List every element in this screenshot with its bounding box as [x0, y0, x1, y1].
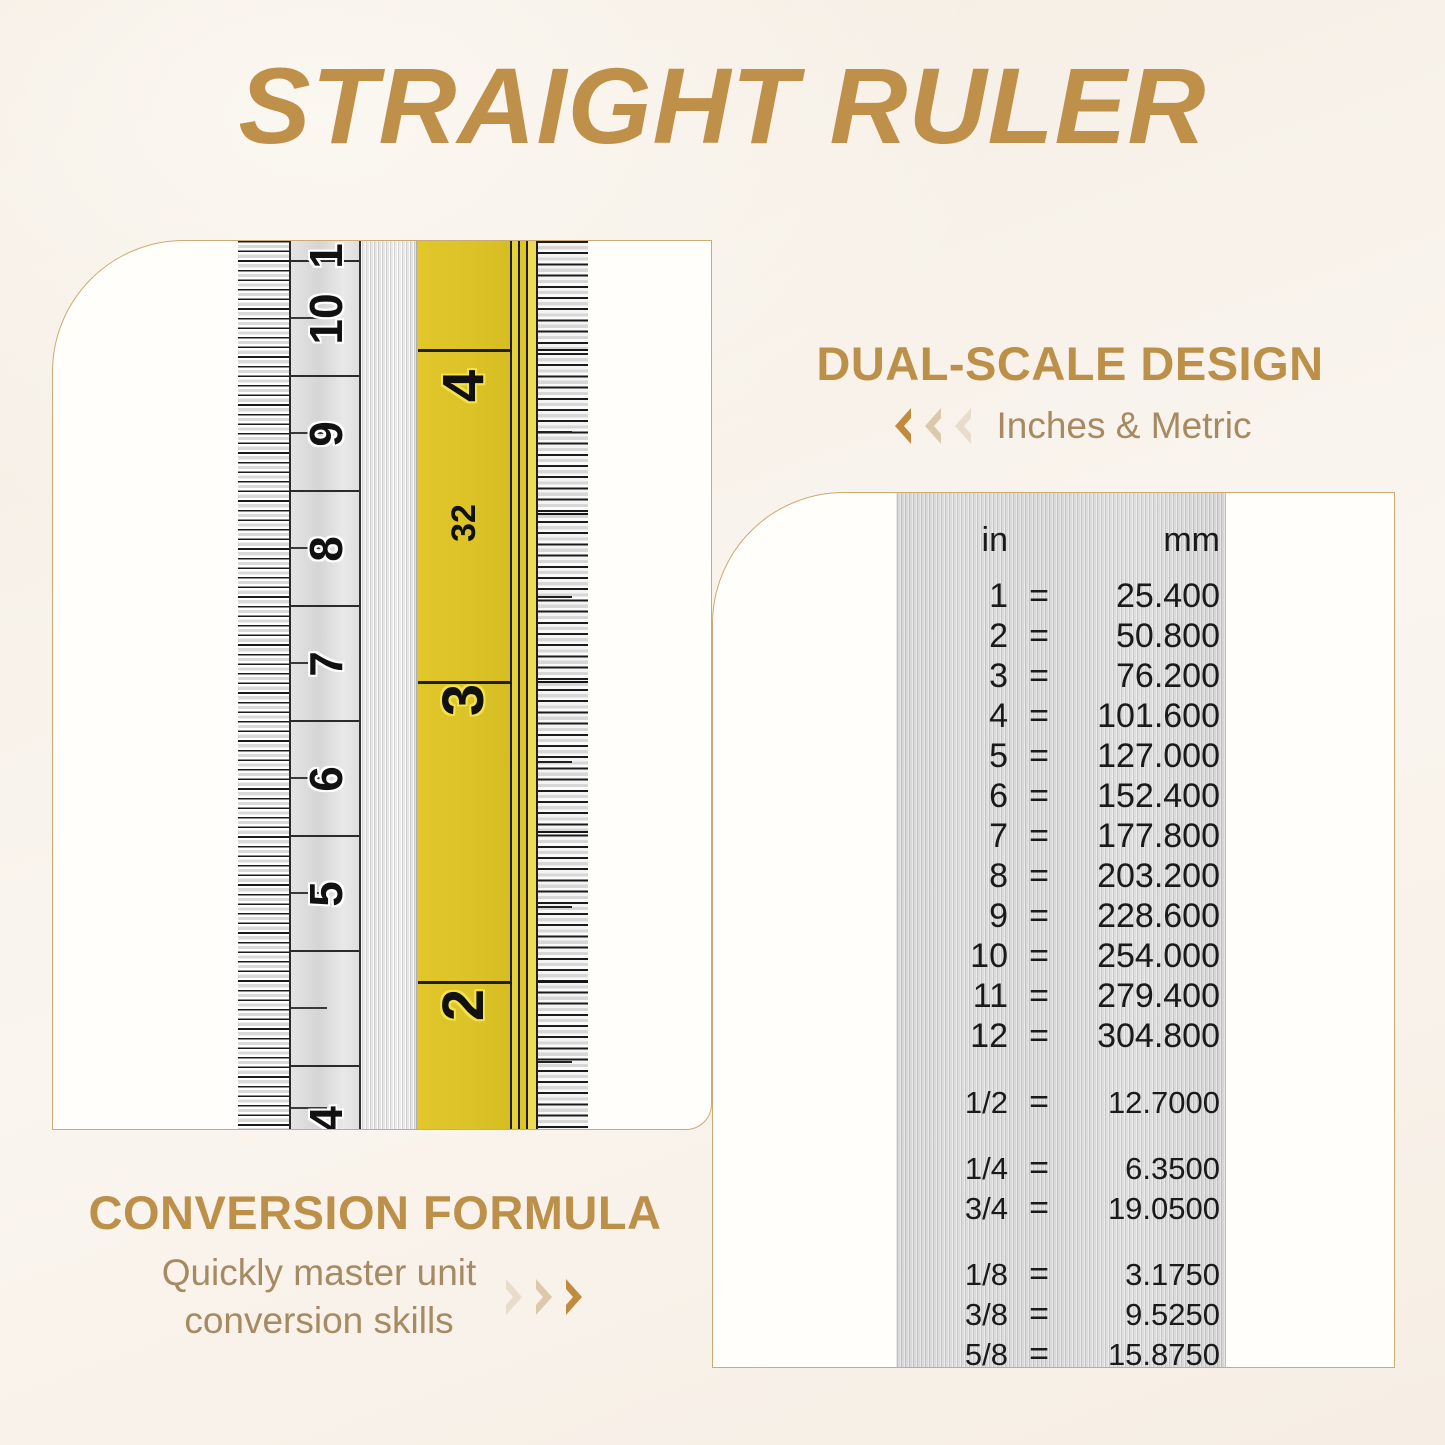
table-row: 5=127.000: [896, 739, 1226, 779]
chevron-left-icon: [919, 406, 945, 446]
cell-millimeters: 6.3500: [1070, 1153, 1220, 1184]
table-row: 1/2=12.7000: [896, 1085, 1226, 1125]
conversion-subtitle-line1: Quickly master unit: [162, 1252, 477, 1294]
cm-separator: [291, 1065, 361, 1067]
cell-inches: 1: [896, 579, 1008, 613]
inch-minor-tick: [538, 906, 572, 908]
half-inch-rows: 1/2=12.7000: [896, 1085, 1226, 1125]
table-header-row: in = mm: [896, 523, 1226, 579]
table-row: 9=228.600: [896, 899, 1226, 939]
cell-millimeters: 304.800: [1070, 1019, 1220, 1053]
row-gap: [896, 1231, 1226, 1257]
inch-major-tick: [538, 349, 588, 351]
inch-major-tick: [538, 681, 588, 683]
inch-sub-label: 32: [447, 477, 481, 569]
cell-millimeters: 254.000: [1070, 939, 1220, 973]
cell-millimeters: 177.800: [1070, 819, 1220, 853]
metric-number-plate: 1 10 9 8 7 6 5 4: [291, 241, 361, 1130]
conversion-formula-title: CONVERSION FORMULA: [55, 1185, 695, 1240]
cell-inches: 12: [896, 1019, 1008, 1053]
chevron-right-icon: [532, 1277, 558, 1317]
chevron-left-group: [889, 406, 975, 446]
dual-scale-subtitle: Inches & Metric: [997, 405, 1252, 447]
chevron-right-icon: [562, 1277, 588, 1317]
row-gap: [896, 1059, 1226, 1085]
column-header-in: in: [896, 523, 1008, 557]
inch-tape-band: 4 32 3 2: [418, 241, 510, 1130]
table-row: 6=152.400: [896, 779, 1226, 819]
cell-equals: =: [1008, 979, 1070, 1013]
cell-equals: =: [1008, 1297, 1070, 1331]
cell-equals: =: [1008, 819, 1070, 853]
cell-inches: 7: [896, 819, 1008, 853]
row-gap: [896, 1125, 1226, 1151]
cell-equals: =: [1008, 859, 1070, 893]
inch-minor-tick: [538, 596, 572, 598]
metal-plate: in = mm 1=25.4002=50.8003=76.2004=101.60…: [896, 493, 1226, 1368]
metric-label: 4: [303, 1084, 349, 1130]
cell-equals: =: [1008, 779, 1070, 813]
cell-inches: 3/8: [896, 1299, 1008, 1330]
cm-separator: [291, 720, 361, 722]
table-row: 1/4=6.3500: [896, 1151, 1226, 1191]
chevron-left-icon: [889, 406, 915, 446]
cell-inches: 11: [896, 979, 1008, 1013]
chevron-left-icon: [949, 406, 975, 446]
ruler-illustration: 1 10 9 8 7 6 5 4 4 32 3 2: [238, 241, 588, 1130]
inch-minor-tick: [538, 1061, 572, 1063]
page-background: STRAIGHT RULER: [0, 0, 1445, 1445]
chevron-right-group: [502, 1277, 588, 1317]
aluminium-body: [361, 241, 418, 1130]
cell-inches: 8: [896, 859, 1008, 893]
cell-millimeters: 15.8750: [1070, 1339, 1220, 1368]
cell-equals: =: [1008, 1191, 1070, 1225]
cell-millimeters: 19.0500: [1070, 1193, 1220, 1224]
cell-inches: 9: [896, 899, 1008, 933]
inch-label: 2: [435, 959, 493, 1051]
tape-edge-stripes: [510, 241, 538, 1130]
cell-inches: 1/4: [896, 1153, 1008, 1184]
dual-scale-title: DUAL-SCALE DESIGN: [760, 336, 1380, 391]
dual-scale-feature: DUAL-SCALE DESIGN Inches & Metric: [760, 336, 1380, 447]
cell-millimeters: 9.5250: [1070, 1299, 1220, 1330]
inch-label: 3: [435, 654, 493, 746]
cell-millimeters: 25.400: [1070, 579, 1220, 613]
cell-inches: 6: [896, 779, 1008, 813]
cell-millimeters: 228.600: [1070, 899, 1220, 933]
inch-major-tick: [538, 513, 588, 515]
cell-inches: 1/2: [896, 1087, 1008, 1118]
cell-inches: 5/8: [896, 1339, 1008, 1368]
cell-inches: 2: [896, 619, 1008, 653]
cell-inches: 10: [896, 939, 1008, 973]
chevron-right-icon: [502, 1277, 528, 1317]
conversion-table: in = mm 1=25.4002=50.8003=76.2004=101.60…: [896, 523, 1226, 1368]
cell-millimeters: 152.400: [1070, 779, 1220, 813]
metric-label: 5: [303, 859, 349, 929]
cell-millimeters: 203.200: [1070, 859, 1220, 893]
inch-major-tick: [538, 831, 588, 833]
column-header-mm: mm: [1070, 523, 1220, 557]
cell-inches: 4: [896, 699, 1008, 733]
cell-equals: =: [1008, 659, 1070, 693]
eighth-inch-rows: 1/8=3.17503/8=9.52505/8=15.8750: [896, 1257, 1226, 1368]
metric-label: 9: [303, 399, 349, 469]
cm-separator: [291, 605, 361, 607]
table-row: 8=203.200: [896, 859, 1226, 899]
quarter-inch-rows: 1/4=6.35003/4=19.0500: [896, 1151, 1226, 1231]
cell-millimeters: 12.7000: [1070, 1087, 1220, 1118]
inch-minor-tick: [538, 431, 572, 433]
metric-label: 6: [303, 744, 349, 814]
table-row: 5/8=15.8750: [896, 1337, 1226, 1368]
conversion-subtitle-line2: conversion skills: [162, 1300, 477, 1342]
table-row: 2=50.800: [896, 619, 1226, 659]
metric-tick-column: [238, 241, 291, 1130]
inch-major-tick: [538, 981, 588, 983]
cell-millimeters: 50.800: [1070, 619, 1220, 653]
cell-millimeters: 279.400: [1070, 979, 1220, 1013]
cell-equals: =: [1008, 739, 1070, 773]
table-row: 1/8=3.1750: [896, 1257, 1226, 1297]
cm-separator: [291, 375, 361, 377]
cell-equals: =: [1008, 939, 1070, 973]
cell-equals: =: [1008, 699, 1070, 733]
inch-label: 4: [435, 340, 493, 432]
cell-inches: 5: [896, 739, 1008, 773]
cell-millimeters: 3.1750: [1070, 1259, 1220, 1290]
page-title: STRAIGHT RULER: [0, 52, 1445, 160]
cell-millimeters: 76.200: [1070, 659, 1220, 693]
cell-equals: =: [1008, 1257, 1070, 1291]
cell-inches: 3: [896, 659, 1008, 693]
cm-separator: [291, 835, 361, 837]
table-row: 7=177.800: [896, 819, 1226, 859]
conversion-formula-feature: CONVERSION FORMULA Quickly master unit c…: [55, 1185, 695, 1342]
table-row: 4=101.600: [896, 699, 1226, 739]
metric-label: 8: [303, 514, 349, 584]
metric-label: 7: [303, 629, 349, 699]
table-row: 3=76.200: [896, 659, 1226, 699]
cell-inches: 1/8: [896, 1259, 1008, 1290]
table-row: 12=304.800: [896, 1019, 1226, 1059]
conversion-table-card: in = mm 1=25.4002=50.8003=76.2004=101.60…: [712, 492, 1395, 1368]
table-row: 3/4=19.0500: [896, 1191, 1226, 1231]
cell-millimeters: 101.600: [1070, 699, 1220, 733]
cell-equals: =: [1008, 1085, 1070, 1119]
cm-separator: [291, 950, 361, 952]
cell-equals: =: [1008, 619, 1070, 653]
inch-tick-column: [538, 241, 588, 1130]
table-row: 3/8=9.5250: [896, 1297, 1226, 1337]
metric-label: 10: [303, 284, 349, 354]
ruler-image-card: 1 10 9 8 7 6 5 4 4 32 3 2: [52, 240, 712, 1130]
table-row: 10=254.000: [896, 939, 1226, 979]
cm-separator: [291, 490, 361, 492]
cell-equals: =: [1008, 1337, 1070, 1368]
cell-millimeters: 127.000: [1070, 739, 1220, 773]
cell-inches: 3/4: [896, 1193, 1008, 1224]
cell-equals: =: [1008, 1151, 1070, 1185]
cell-equals: =: [1008, 899, 1070, 933]
inch-minor-tick: [538, 761, 572, 763]
cell-equals: =: [1008, 579, 1070, 613]
table-row: 11=279.400: [896, 979, 1226, 1019]
cell-equals: =: [1008, 1019, 1070, 1053]
half-cm-tick: [291, 1007, 327, 1009]
table-row: 1=25.400: [896, 579, 1226, 619]
whole-inch-rows: 1=25.4002=50.8003=76.2004=101.6005=127.0…: [896, 579, 1226, 1059]
